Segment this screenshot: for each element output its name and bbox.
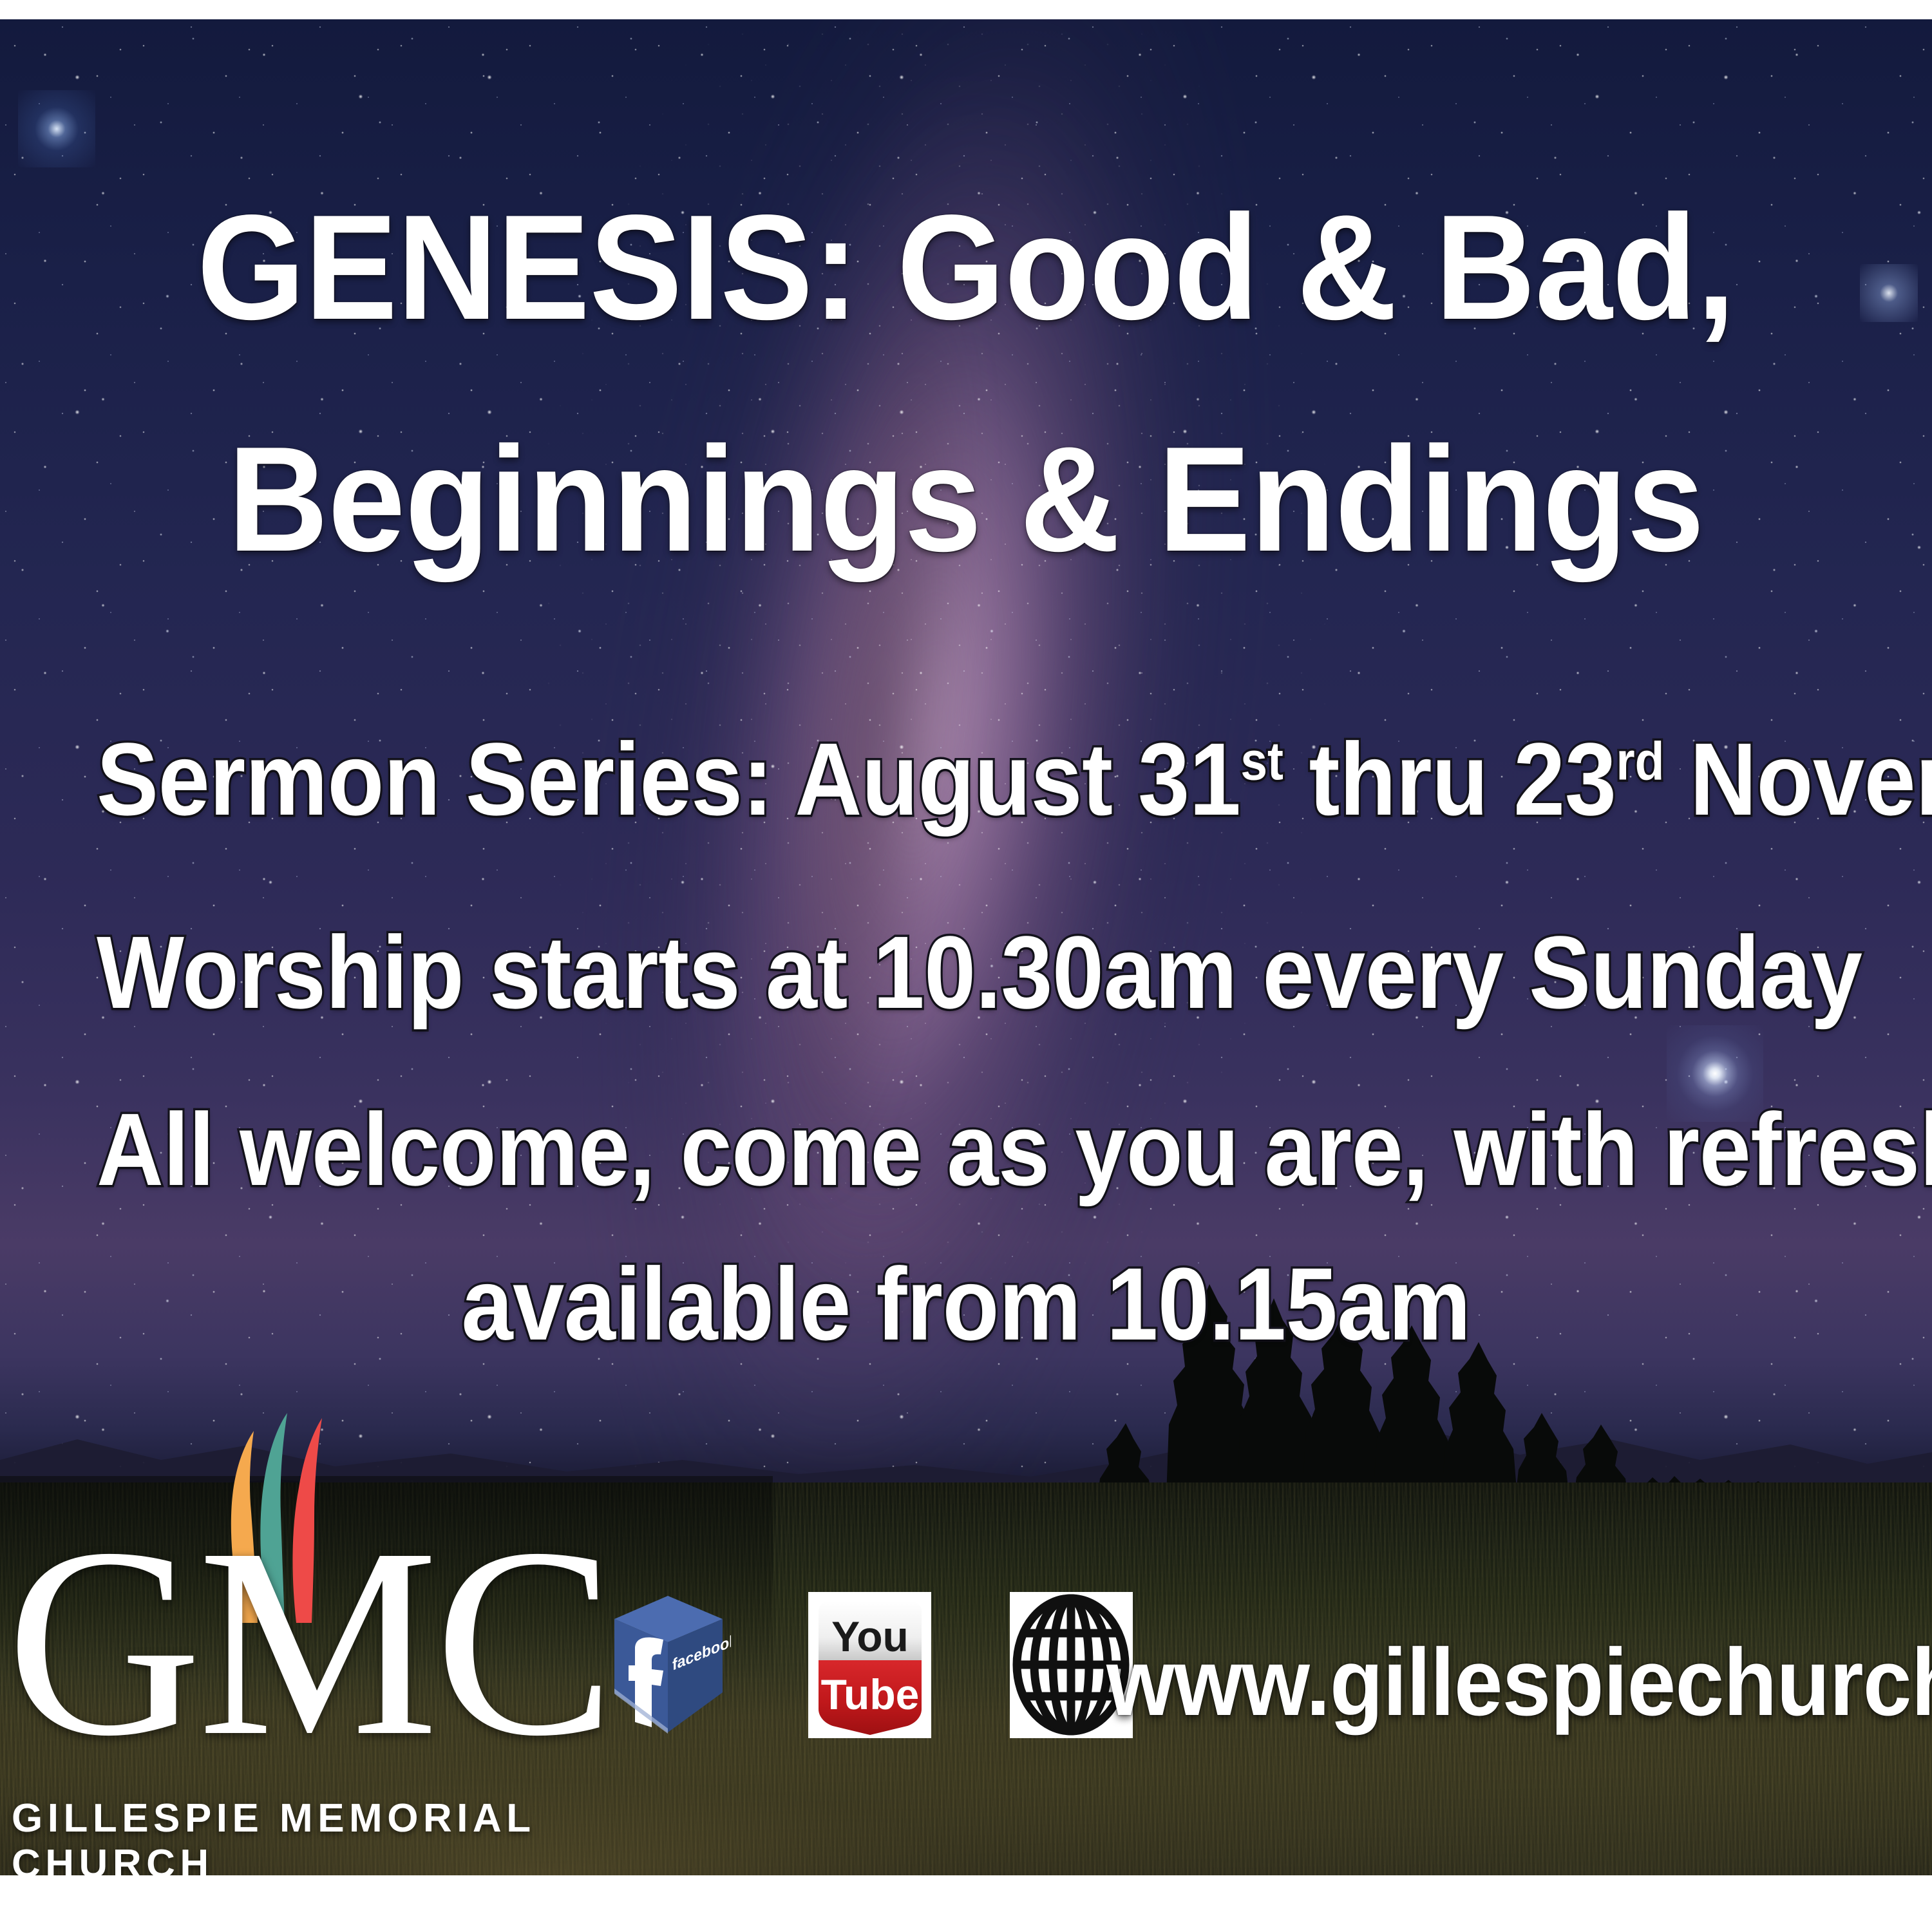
sermon-series-line: Sermon Series: August 31st thru 23rd Nov… — [97, 728, 1835, 831]
welcome-line: All welcome, come as you are, with refre… — [97, 1098, 1835, 1201]
church-name: GILLESPIE MEMORIAL CHURCH — [12, 1795, 540, 1887]
letterbox-top — [0, 0, 1932, 19]
gmc-logo: GMC GILLESPIE MEMORIAL CHURCH — [6, 1410, 535, 1861]
social-icons-row: facebook — [605, 1571, 1134, 1758]
website-url[interactable]: www.gillespiechurch.org — [1106, 1628, 1932, 1738]
youtube-you-text: You — [831, 1613, 909, 1660]
title-line-2: Beginnings & Endings — [68, 425, 1864, 574]
youtube-icon[interactable]: You Tube — [807, 1589, 933, 1741]
letterbox-bottom — [0, 1875, 1932, 1932]
series-ordinal-st: st — [1240, 732, 1283, 791]
series-prefix: Sermon Series: August 31 — [97, 721, 1240, 837]
facebook-icon[interactable]: facebook — [605, 1589, 731, 1741]
title-line-1: GENESIS: Good & Bad, — [68, 193, 1864, 343]
refreshments-line: available from 10.15am — [97, 1253, 1835, 1356]
series-middle: thru 23 — [1283, 721, 1616, 837]
gmc-monogram: GMC — [6, 1507, 535, 1777]
worship-time-line: Worship starts at 10.30am every Sunday — [97, 921, 1835, 1024]
sermon-series-poster: GENESIS: Good & Bad, Beginnings & Ending… — [0, 0, 1932, 1932]
series-ordinal-rd: rd — [1616, 732, 1664, 791]
youtube-tube-text: Tube — [821, 1671, 920, 1718]
series-suffix: November — [1664, 721, 1932, 837]
